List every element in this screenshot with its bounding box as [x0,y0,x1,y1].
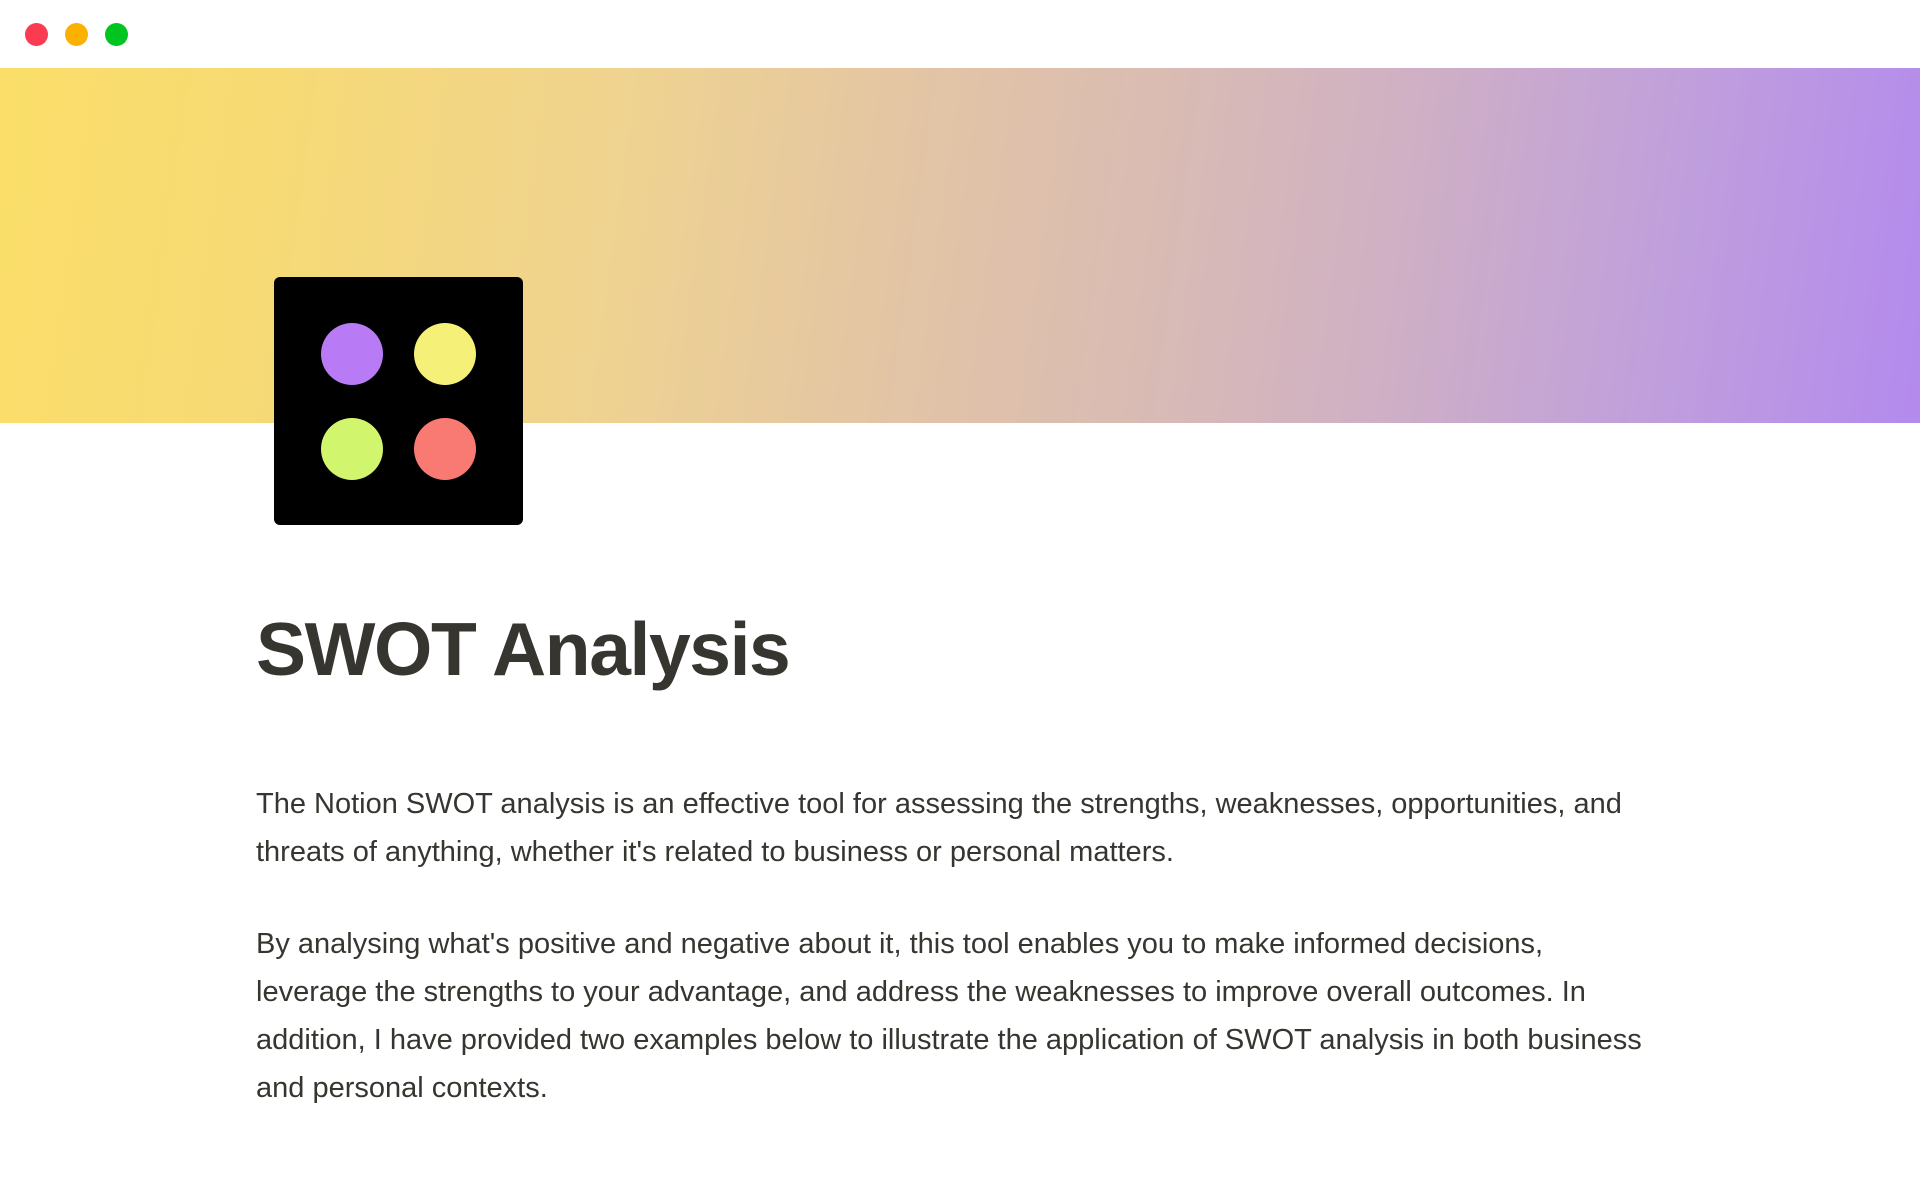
page-body: SWOT Analysis The Notion SWOT analysis i… [0,525,1920,1112]
dot-lime-icon [321,418,383,480]
minimize-button[interactable] [65,23,88,46]
app-window: SWOT Analysis The Notion SWOT analysis i… [0,0,1920,1200]
dot-yellow-icon [414,323,476,385]
page-icon[interactable] [274,277,523,525]
paragraph-intro[interactable]: The Notion SWOT analysis is an effective… [256,780,1656,876]
dot-salmon-icon [414,418,476,480]
page-title[interactable]: SWOT Analysis [256,609,1720,690]
close-button[interactable] [25,23,48,46]
window-titlebar [0,0,1920,68]
maximize-button[interactable] [105,23,128,46]
paragraph-description[interactable]: By analysing what's positive and negativ… [256,920,1656,1112]
dot-purple-icon [321,323,383,385]
page-content: The Notion SWOT analysis is an effective… [256,780,1656,1112]
